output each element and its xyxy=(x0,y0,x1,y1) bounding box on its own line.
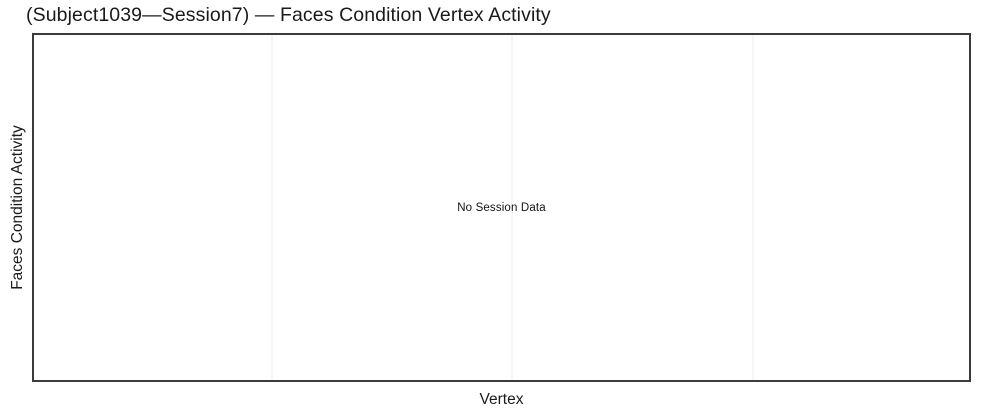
chart-figure: (Subject1039—Session7) — Faces Condition… xyxy=(0,0,1000,417)
chart-title: (Subject1039—Session7) — Faces Condition… xyxy=(26,2,551,28)
empty-state-message: No Session Data xyxy=(34,202,969,214)
y-axis-label: Faces Condition Activity xyxy=(4,33,32,382)
plot-area: No Session Data xyxy=(32,33,971,382)
x-axis-label: Vertex xyxy=(32,391,971,409)
